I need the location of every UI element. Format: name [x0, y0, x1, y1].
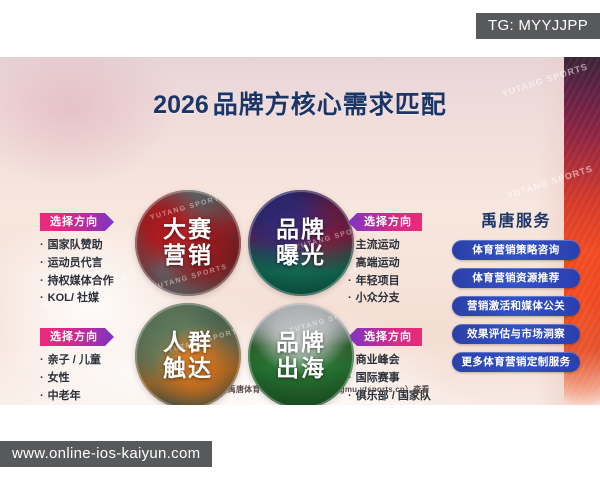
- circle-competition-marketing[interactable]: YUTANG SPORTS YUTANG SPORTS 大赛 营销: [135, 190, 241, 296]
- badge-wrap: 选择方向: [40, 327, 114, 346]
- direction-list: 亲子 / 儿童 女性 中老年 中 / 高净值 年轻人: [40, 352, 114, 405]
- service-pill-activation[interactable]: 营销激活和媒体公关: [452, 296, 580, 316]
- badge-wrap: 选择方向: [348, 212, 422, 231]
- telegram-watermark: TG: MYYJJPP: [476, 13, 600, 39]
- service-pill-resources[interactable]: 体育营销资源推荐: [452, 268, 580, 288]
- direction-group-sponsorship: 选择方向 国家队赞助 运动员代言 持权媒体合作 KOL/ 社媒: [40, 212, 114, 308]
- direction-badge: 选择方向: [348, 213, 422, 231]
- decorative-bloom-1: [0, 57, 180, 187]
- circle-ring: [135, 190, 241, 296]
- service-pill-custom[interactable]: 更多体育营销定制服务: [452, 352, 580, 372]
- list-item[interactable]: 小众分支: [348, 290, 422, 308]
- services-heading: 禹唐服务: [452, 207, 580, 231]
- badge-wrap: 选择方向: [348, 327, 431, 346]
- direction-group-sport-type: 选择方向 主流运动 高端运动 年轻项目 小众分支: [348, 212, 422, 308]
- circle-brand-globalization[interactable]: YUTANG SPORTS 品牌 出海: [248, 303, 354, 405]
- direction-list: 国家队赞助 运动员代言 持权媒体合作 KOL/ 社媒: [40, 237, 114, 308]
- direction-list: 主流运动 高端运动 年轻项目 小众分支: [348, 237, 422, 308]
- badge-wrap: 选择方向: [40, 212, 114, 231]
- list-item[interactable]: 高端运动: [348, 255, 422, 273]
- direction-list: 商业峰会 国际赛事 俱乐部 / 国家队 球星代言 转播媒体: [348, 352, 431, 405]
- circle-ring: [248, 303, 354, 405]
- poster-image: YUTANG SPORTS YUTANG SPORTS YUTANG SPORT…: [0, 57, 600, 405]
- service-pill-strategy[interactable]: 体育营销策略咨询: [452, 240, 580, 260]
- list-item[interactable]: 国家队赞助: [40, 237, 114, 255]
- direction-badge: 选择方向: [348, 328, 422, 346]
- list-item[interactable]: 商业峰会: [348, 352, 431, 370]
- list-item[interactable]: 主流运动: [348, 237, 422, 255]
- list-item[interactable]: KOL/ 社媒: [40, 290, 114, 308]
- site-url-watermark: www.online-ios-kaiyun.com: [0, 441, 212, 467]
- direction-badge: 选择方向: [40, 213, 114, 231]
- service-pill-evaluation[interactable]: 效果评估与市场洞察: [452, 324, 580, 344]
- circle-audience-reach[interactable]: YUTANG SPORTS 人群 触达: [135, 303, 241, 405]
- services-panel: 禹唐服务 体育营销策略咨询 体育营销资源推荐 营销激活和媒体公关 效果评估与市场…: [452, 207, 580, 372]
- circle-ring: [135, 303, 241, 405]
- circle-ring: [248, 190, 354, 296]
- direction-badge: 选择方向: [40, 328, 114, 346]
- list-item[interactable]: 持权媒体合作: [40, 273, 114, 291]
- poster-title: 2026品牌方核心需求匹配: [0, 85, 600, 121]
- circle-brand-exposure[interactable]: YUTANG SPORTS 品牌 曝光: [248, 190, 354, 296]
- list-item[interactable]: 亲子 / 儿童: [40, 352, 114, 370]
- title-year: 2026: [153, 91, 209, 119]
- list-item[interactable]: 运动员代言: [40, 255, 114, 273]
- title-text: 品牌方核心需求匹配: [213, 91, 447, 119]
- list-item[interactable]: 年轻项目: [348, 273, 422, 291]
